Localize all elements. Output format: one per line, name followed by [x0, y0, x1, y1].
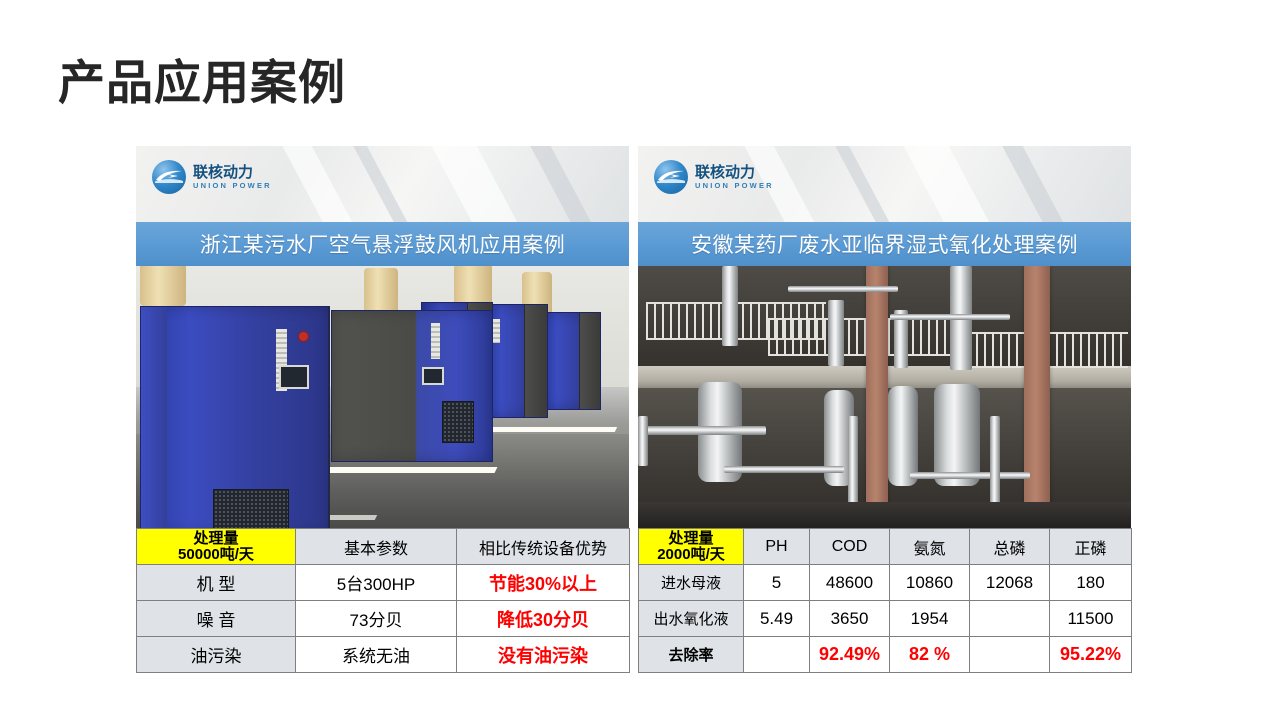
blower-unit [331, 310, 493, 462]
capacity-label: 处理量 [639, 531, 743, 547]
case-caption-wao: 安徽某药厂废水亚临界湿式氧化处理案例 [691, 229, 1078, 259]
union-power-logo-icon [654, 160, 688, 194]
table-row: 油污染 系统无油 没有油污染 [137, 637, 630, 673]
row-value-highlight: 92.49% [810, 637, 890, 673]
case-photo-blower: 联核动力 UNION POWER 浙江某污水厂空气悬浮鼓风机应用案例 [136, 146, 629, 528]
brand-name-cn: 联核动力 [695, 165, 774, 180]
row-label: 去除率 [639, 637, 744, 673]
scene-pipe [724, 466, 844, 473]
table-row: 机 型 5台300HP 节能30%以上 [137, 565, 630, 601]
column-header-ph: PH [744, 529, 810, 565]
scene-pipe [638, 416, 648, 466]
row-value [970, 637, 1050, 673]
column-header-orthophosphate: 正磷 [1050, 529, 1132, 565]
row-label: 机 型 [137, 565, 296, 601]
brand-logo: 联核动力 UNION POWER [654, 160, 774, 194]
page-title: 产品应用案例 [58, 57, 346, 109]
scene-concrete-column [1024, 266, 1050, 528]
row-value: 5 [744, 565, 810, 601]
row-value [744, 637, 810, 673]
blower-side-panel [328, 307, 329, 528]
row-value: 11500 [1050, 601, 1132, 637]
case-table-wrap-blower: 处理量 50000吨/天 基本参数 相比传统设备优势 机 型 5台300HP 节… [136, 528, 629, 673]
table-header-row: 处理量 2000吨/天 PH COD 氨氮 总磷 正磷 [639, 529, 1132, 565]
row-label: 出水氧化液 [639, 601, 744, 637]
row-value-highlight: 82 % [890, 637, 970, 673]
row-value: 180 [1050, 565, 1132, 601]
capacity-header-cell: 处理量 50000吨/天 [137, 529, 296, 565]
scene-concrete-column [866, 266, 888, 528]
union-power-logo-icon [152, 160, 186, 194]
logo-swoosh-shape [155, 169, 183, 183]
scene-ground [638, 502, 1131, 528]
case-table-blower: 处理量 50000吨/天 基本参数 相比传统设备优势 机 型 5台300HP 节… [136, 528, 630, 673]
row-value-highlight: 没有油污染 [457, 637, 630, 673]
row-value: 5.49 [744, 601, 810, 637]
logo-swoosh-shape [657, 169, 685, 183]
scene-pipe [646, 426, 766, 435]
case-panel-wao: 联核动力 UNION POWER 安徽某药厂废水亚临界湿式氧化处理案例 [638, 146, 1131, 673]
row-value [970, 601, 1050, 637]
blower-emergency-stop-icon [298, 331, 309, 342]
row-value: 12068 [970, 565, 1050, 601]
column-header-cod: COD [810, 529, 890, 565]
blower-grille [442, 401, 474, 443]
scene-pipe [910, 472, 1030, 479]
brand-logo-text: 联核动力 UNION POWER [193, 165, 272, 190]
blower-room-scene [136, 266, 629, 528]
table-row: 噪 音 73分贝 降低30分贝 [137, 601, 630, 637]
case-panels-container: 联核动力 UNION POWER 浙江某污水厂空气悬浮鼓风机应用案例 [136, 146, 1131, 673]
capacity-value: 50000吨/天 [137, 547, 295, 563]
blower-side-panel [524, 305, 547, 417]
plant-piping-scene [638, 266, 1131, 528]
scene-pipe [890, 314, 1010, 320]
capacity-header-cell: 处理量 2000吨/天 [639, 529, 744, 565]
row-label: 油污染 [137, 637, 296, 673]
table-row: 去除率 92.49% 82 % 95.22% [639, 637, 1132, 673]
row-value: 5台300HP [296, 565, 457, 601]
case-table-wrap-wao: 处理量 2000吨/天 PH COD 氨氮 总磷 正磷 进水母液 5 48600… [638, 528, 1131, 673]
row-value-highlight: 降低30分贝 [457, 601, 630, 637]
row-value-highlight: 节能30%以上 [457, 565, 630, 601]
photo-glare-4 [518, 146, 629, 222]
blower-side-panel [579, 313, 600, 409]
row-value-highlight: 95.22% [1050, 637, 1132, 673]
blower-hmi-screen [422, 367, 444, 385]
capacity-label: 处理量 [137, 531, 295, 547]
scene-pipe [722, 266, 738, 346]
blower-edge-face [141, 307, 167, 528]
brand-logo: 联核动力 UNION POWER [152, 160, 272, 194]
table-header-row: 处理量 50000吨/天 基本参数 相比传统设备优势 [137, 529, 630, 565]
row-value: 1954 [890, 601, 970, 637]
blower-hmi-screen [279, 365, 309, 389]
row-value: 10860 [890, 565, 970, 601]
case-panel-blower: 联核动力 UNION POWER 浙江某污水厂空气悬浮鼓风机应用案例 [136, 146, 629, 673]
scene-floor-highlight [305, 467, 498, 473]
case-caption-band-blower: 浙江某污水厂空气悬浮鼓风机应用案例 [136, 222, 629, 266]
brand-name-cn: 联核动力 [193, 165, 272, 180]
scene-pipe [788, 286, 898, 292]
scene-vessel [934, 384, 980, 486]
row-label: 进水母液 [639, 565, 744, 601]
case-caption-band-wao: 安徽某药厂废水亚临界湿式氧化处理案例 [638, 222, 1131, 266]
column-header-advantage: 相比传统设备优势 [457, 529, 630, 565]
blower-unit [541, 312, 601, 410]
column-header-total-phosphorus: 总磷 [970, 529, 1050, 565]
case-table-wao: 处理量 2000吨/天 PH COD 氨氮 总磷 正磷 进水母液 5 48600… [638, 528, 1132, 673]
row-value: 3650 [810, 601, 890, 637]
blower-unit [484, 304, 548, 418]
photo-glare-4 [990, 146, 1104, 222]
row-value: 系统无油 [296, 637, 457, 673]
row-value: 48600 [810, 565, 890, 601]
blower-grille [213, 489, 289, 528]
row-value: 73分贝 [296, 601, 457, 637]
blower-label-strip [431, 323, 440, 359]
scene-vessel [888, 386, 918, 486]
capacity-value: 2000吨/天 [639, 547, 743, 563]
scene-pipe [828, 300, 844, 366]
brand-name-en: UNION POWER [695, 182, 774, 190]
case-photo-wao: 联核动力 UNION POWER 安徽某药厂废水亚临界湿式氧化处理案例 [638, 146, 1131, 528]
brand-name-en: UNION POWER [193, 182, 272, 190]
brand-logo-text: 联核动力 UNION POWER [695, 165, 774, 190]
column-header-ammonia-nitrogen: 氨氮 [890, 529, 970, 565]
case-caption-blower: 浙江某污水厂空气悬浮鼓风机应用案例 [200, 229, 566, 259]
table-row: 进水母液 5 48600 10860 12068 180 [639, 565, 1132, 601]
table-row: 出水氧化液 5.49 3650 1954 11500 [639, 601, 1132, 637]
column-header-basic-params: 基本参数 [296, 529, 457, 565]
row-label: 噪 音 [137, 601, 296, 637]
photo-glare-2 [335, 146, 449, 222]
blower-unit-foreground [140, 306, 330, 528]
scene-tank [140, 266, 186, 306]
